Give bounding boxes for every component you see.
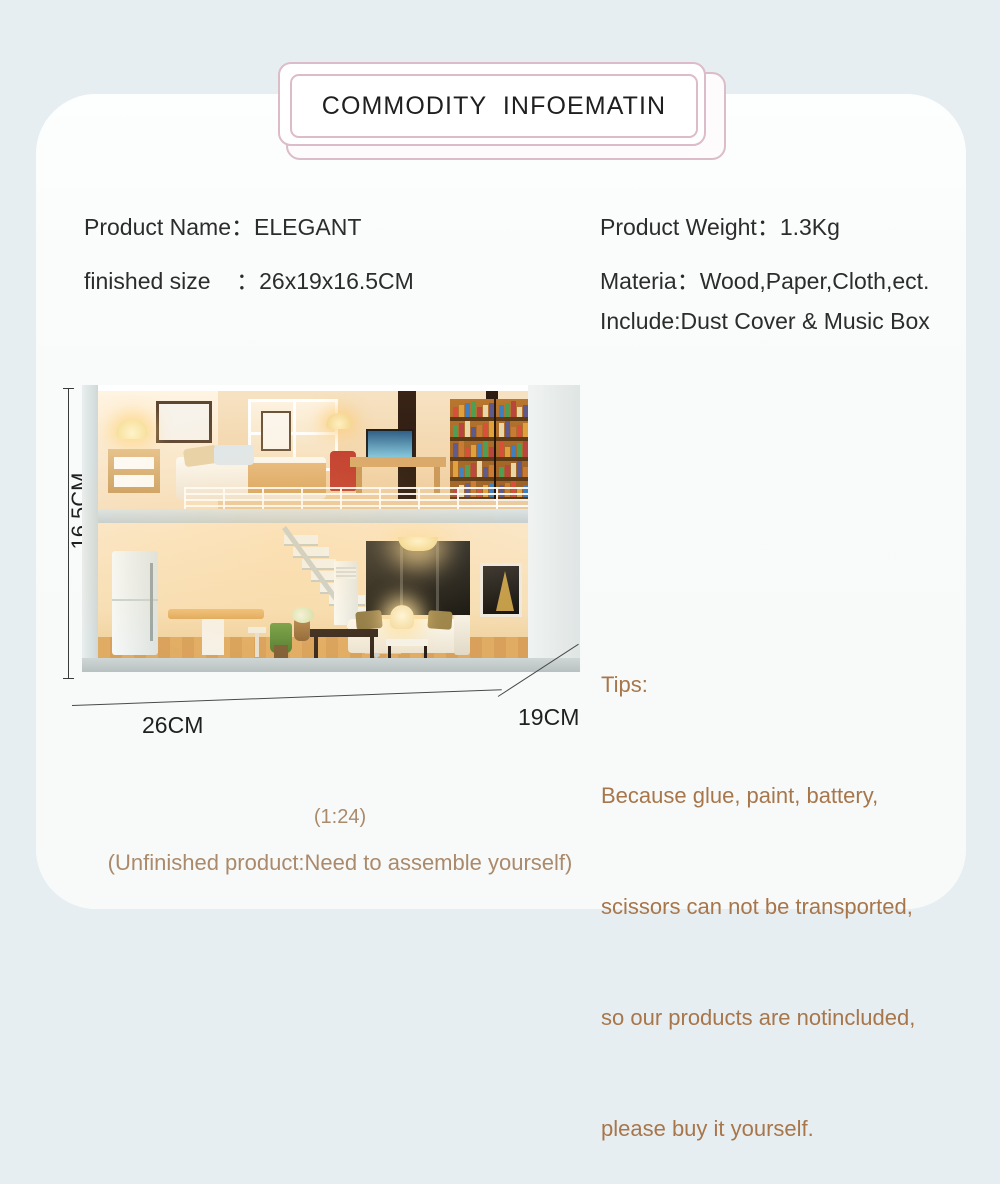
title-frame-inner: COMMODITY INFOEMATIN bbox=[290, 74, 698, 138]
book bbox=[511, 445, 516, 457]
flowers bbox=[292, 607, 314, 623]
spec-material: Materia：Wood,Paper,Cloth,ect. bbox=[600, 262, 929, 296]
upper-floor bbox=[98, 391, 528, 515]
book bbox=[453, 425, 458, 437]
book bbox=[459, 405, 464, 417]
book bbox=[511, 427, 516, 437]
book bbox=[465, 465, 470, 477]
book bbox=[453, 461, 458, 477]
tips-line-3: so our products are notincluded, bbox=[601, 999, 981, 1036]
book bbox=[523, 467, 528, 477]
tips-line-2: scissors can not be transported, bbox=[601, 888, 981, 925]
book bbox=[477, 407, 482, 417]
tips-block: Tips: Because glue, paint, battery, scis… bbox=[601, 592, 981, 1184]
nightstand-drawer-bottom bbox=[114, 475, 154, 487]
book bbox=[471, 427, 476, 437]
eiffel-tower-icon bbox=[496, 571, 514, 611]
bookshelf-shelf bbox=[496, 457, 528, 461]
dollhouse-model bbox=[82, 385, 580, 661]
bed-pillow-blue bbox=[214, 445, 254, 465]
lower-floor bbox=[98, 523, 528, 661]
spec-finished-size: finished size ：26x19x16.5CM bbox=[84, 262, 414, 296]
kitchen-counter bbox=[168, 609, 264, 619]
framed-art-small bbox=[261, 411, 291, 451]
book bbox=[483, 467, 488, 477]
window-mullion-2 bbox=[436, 541, 439, 615]
spec-product-name: Product Name：ELEGANT bbox=[84, 208, 361, 242]
book bbox=[489, 421, 494, 437]
side-table bbox=[386, 639, 428, 646]
study-desk bbox=[350, 457, 446, 467]
book bbox=[499, 423, 504, 437]
book bbox=[477, 461, 482, 477]
sofa-chaise bbox=[454, 615, 470, 655]
book bbox=[505, 421, 510, 437]
railing-wire bbox=[184, 505, 528, 507]
desk-monitor bbox=[366, 429, 414, 459]
book bbox=[511, 463, 516, 477]
book bbox=[477, 443, 482, 457]
book bbox=[489, 465, 494, 477]
coffee-table-leg-left bbox=[314, 637, 318, 659]
book bbox=[517, 461, 522, 477]
window-wall bbox=[366, 541, 470, 615]
house-right-wall bbox=[528, 385, 580, 661]
title-plaque: COMMODITY INFOEMATIN bbox=[278, 62, 728, 162]
book bbox=[517, 407, 522, 417]
house-left-wall bbox=[82, 385, 98, 661]
window-mullion-1 bbox=[400, 541, 403, 615]
book bbox=[453, 443, 458, 457]
refrigerator-handle bbox=[150, 563, 153, 641]
book bbox=[459, 423, 464, 437]
book bbox=[499, 405, 504, 417]
book bbox=[505, 465, 510, 477]
framed-art-deer bbox=[156, 401, 212, 443]
page-title: COMMODITY INFOEMATIN bbox=[322, 92, 666, 121]
book bbox=[477, 425, 482, 437]
railing-wire bbox=[184, 487, 528, 489]
book bbox=[489, 403, 494, 417]
table-lamp-icon bbox=[390, 605, 414, 629]
book bbox=[471, 463, 476, 477]
unfinished-caption: (Unfinished product:Need to assemble you… bbox=[0, 850, 680, 876]
coffee-table bbox=[310, 629, 378, 637]
book bbox=[483, 441, 488, 457]
book bbox=[471, 401, 476, 417]
book bbox=[499, 441, 504, 457]
kitchen-counter-base bbox=[202, 619, 224, 655]
dimension-width-label: 26CM bbox=[142, 712, 203, 739]
dimension-depth-label: 19CM bbox=[518, 704, 579, 731]
tips-heading: Tips: bbox=[601, 666, 981, 703]
book bbox=[517, 425, 522, 437]
product-photo: 16.5CM bbox=[60, 360, 600, 730]
sofa-cushion-left bbox=[355, 610, 382, 630]
book bbox=[505, 447, 510, 457]
spec-product-weight: Product Weight：1.3Kg bbox=[600, 208, 840, 242]
tips-line-4: please buy it yourself. bbox=[601, 1110, 981, 1147]
bedside-lamp-icon bbox=[116, 419, 148, 439]
nightstand-drawer-top bbox=[114, 457, 154, 469]
book bbox=[471, 445, 476, 457]
bookshelf-right bbox=[496, 399, 528, 499]
book bbox=[517, 443, 522, 457]
bookshelf-shelf bbox=[450, 417, 494, 421]
spec-include: Include:Dust Cover & Music Box bbox=[600, 308, 930, 335]
book bbox=[483, 405, 488, 417]
bookshelf-shelf bbox=[496, 417, 528, 421]
sofa-cushion-right bbox=[427, 610, 452, 630]
book bbox=[511, 401, 516, 417]
book bbox=[483, 423, 488, 437]
book bbox=[465, 447, 470, 457]
book bbox=[465, 403, 470, 417]
book bbox=[523, 405, 528, 417]
book bbox=[453, 407, 458, 417]
scale-caption: (1:24) bbox=[0, 806, 680, 829]
title-frame-middle: COMMODITY INFOEMATIN bbox=[278, 62, 706, 146]
height-measure-cap-bottom bbox=[63, 678, 74, 679]
book bbox=[505, 403, 510, 417]
book bbox=[465, 421, 470, 437]
book bbox=[459, 467, 464, 477]
book bbox=[499, 467, 504, 477]
base-front-edge-line bbox=[72, 689, 502, 706]
book bbox=[489, 447, 494, 457]
mezzanine-slab bbox=[98, 509, 528, 523]
coffee-table-leg-right bbox=[370, 637, 374, 659]
model-base bbox=[82, 658, 580, 672]
railing-wire bbox=[184, 499, 528, 501]
wall-lamp-icon bbox=[326, 413, 352, 429]
height-measure-cap-top bbox=[63, 388, 74, 389]
book bbox=[523, 441, 528, 457]
bookshelf-left bbox=[450, 399, 494, 499]
railing-wire bbox=[184, 493, 528, 495]
book bbox=[459, 441, 464, 457]
bar-stool-leg bbox=[255, 633, 259, 657]
book bbox=[523, 423, 528, 437]
air-conditioner-vent bbox=[336, 567, 356, 579]
